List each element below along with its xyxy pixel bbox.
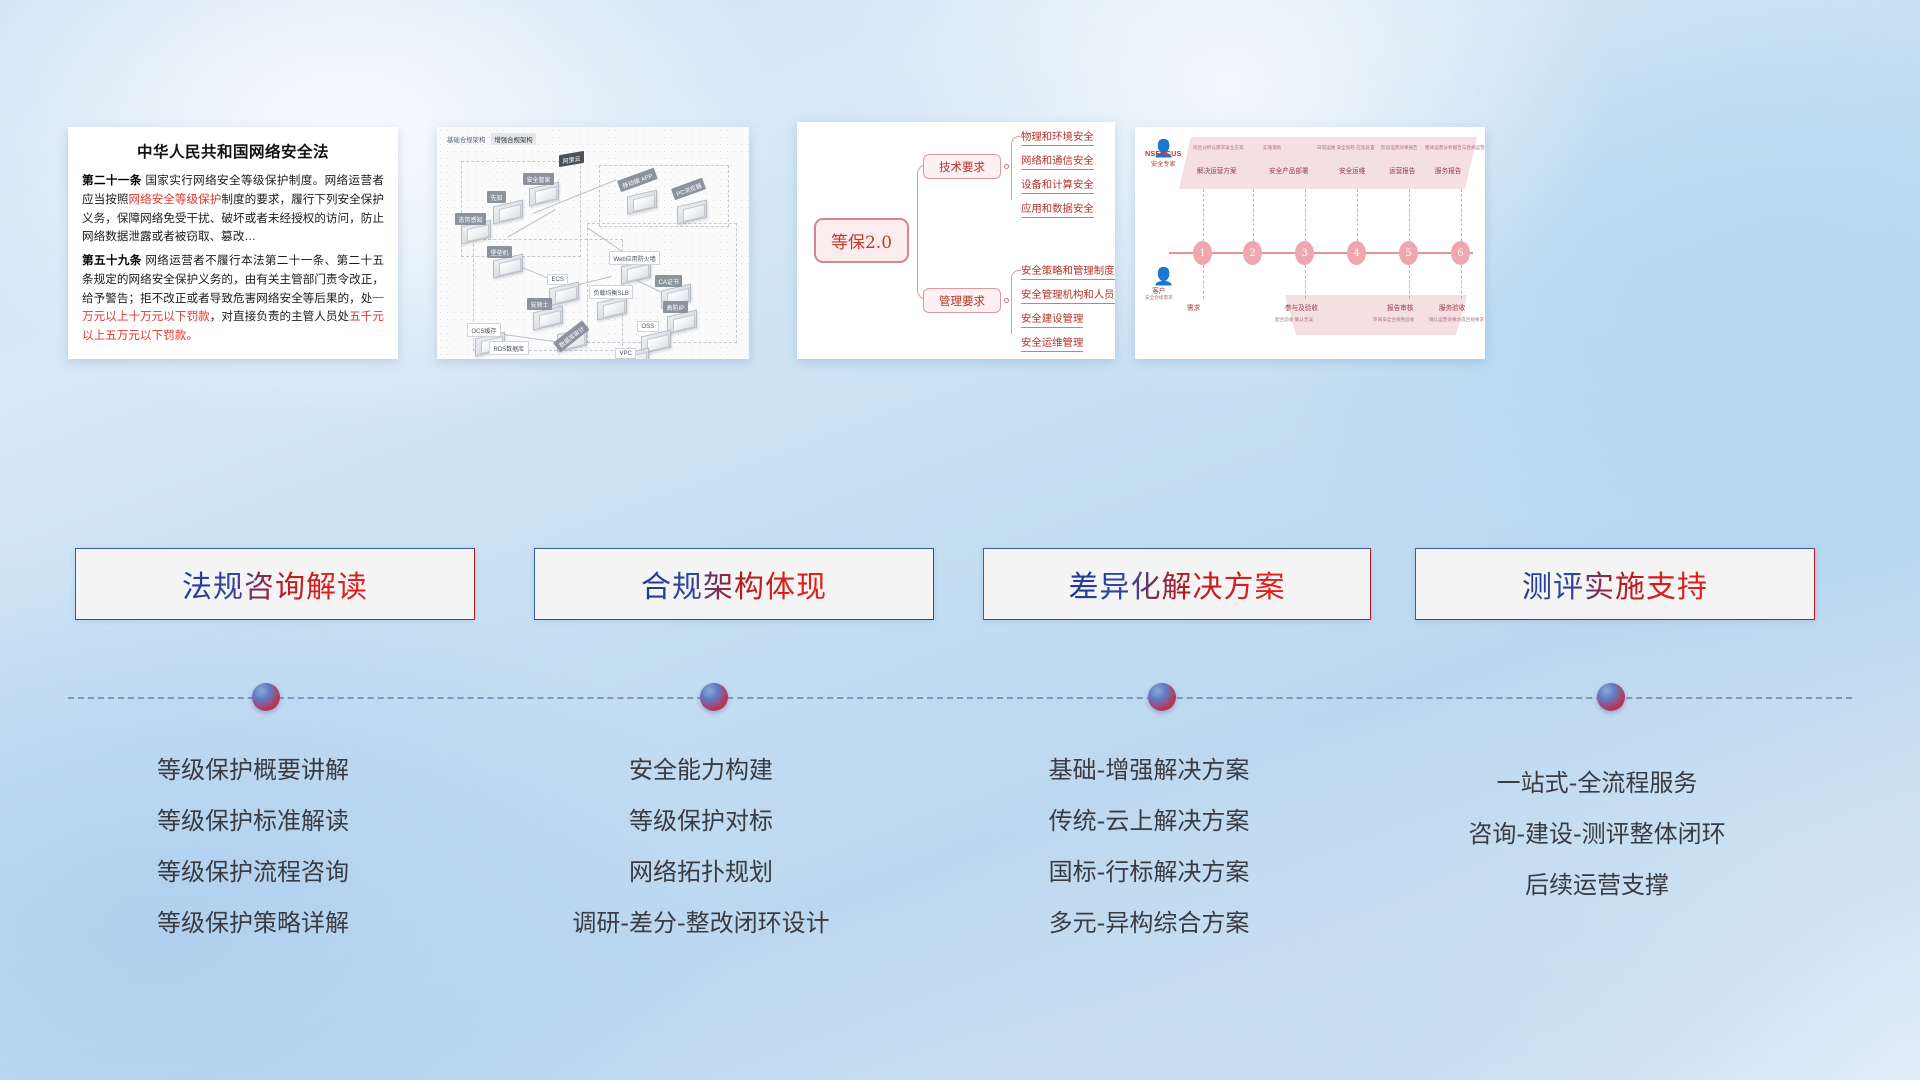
brand-block: NSFOCUS 安全专家	[1145, 149, 1182, 168]
timeline-node: 5	[1399, 241, 1418, 265]
timeline-stem	[1461, 189, 1462, 241]
banner-label: 差异化解决方案	[1069, 562, 1286, 606]
timeline-dashed-line	[68, 697, 1852, 699]
bottom-step-sub: 审阅安全合规性验收	[1373, 317, 1414, 323]
feature-list-2: 安全能力构建 等级保护对标 网络拓扑规划 调研-差分-整改闭环设计	[536, 745, 866, 949]
list-item: 一站式-全流程服务	[1422, 758, 1772, 809]
mindmap-branch-technical: 技术要求	[923, 154, 1001, 179]
timeline-stem	[1253, 189, 1254, 241]
node-label: ECS	[547, 274, 568, 285]
timeline-marker-4[interactable]	[1597, 683, 1625, 711]
node-label: 安骑士	[527, 298, 552, 310]
top-step-title: 服务报告	[1435, 165, 1461, 175]
list-item: 咨询-建设-测评整体闭环	[1422, 809, 1772, 860]
bottom-step-title: 服务验收	[1439, 302, 1465, 312]
timeline-node: 2	[1243, 241, 1262, 265]
top-step-sub: 综合分析以需求设立方案	[1193, 145, 1244, 151]
customer-avatar-icon: 👤	[1153, 267, 1174, 287]
list-item: 等级保护对标	[536, 796, 866, 847]
mindmap-leaf: 安全建设管理	[1021, 310, 1083, 328]
timeline-axis	[1169, 252, 1473, 254]
list-item: 后续运营支撑	[1422, 860, 1772, 911]
article-59-text-b: ，对直接负责的主管人员处	[210, 310, 349, 323]
mindmap-leaf: 安全策略和管理制度	[1021, 262, 1115, 280]
timeline-marker-1[interactable]	[252, 683, 280, 711]
banner-label: 合规架构体现	[641, 562, 827, 606]
slide-canvas: 中华人民共和国网络安全法 第二十一条 国家实行网络安全等级保护制度。网络运营者应…	[0, 0, 1920, 1080]
top-step-sub: 整体运营分析报告与合规运营效果	[1425, 145, 1485, 151]
bottom-step-title: 需求	[1187, 302, 1200, 312]
timeline-stem	[1409, 265, 1410, 299]
node-label: 态势感知	[455, 213, 486, 225]
timeline-stem	[1409, 189, 1410, 241]
banner-assessment-support[interactable]: 测评实施支持	[1415, 548, 1815, 620]
mindmap-connector	[1011, 136, 1021, 200]
banner-regulation-consulting[interactable]: 法规咨询解读	[75, 548, 475, 620]
brand-subtitle: 安全专家	[1145, 159, 1182, 168]
node-label: OCS缓存	[467, 323, 501, 337]
timeline-stem	[1461, 265, 1462, 299]
timeline-canvas: 👤 NSFOCUS 安全专家 👤 客户 安全合规需求 综合分析以需求设立方案 实…	[1135, 127, 1485, 359]
customer-label: 客户	[1145, 285, 1173, 295]
node-label: 负载均衡SLB	[589, 285, 633, 299]
timeline-stem	[1203, 189, 1204, 241]
card-law-text: 中华人民共和国网络安全法 第二十一条 国家实行网络安全等级保护制度。网络运营者应…	[68, 127, 398, 359]
list-item: 网络拓扑规划	[536, 847, 866, 898]
tab-enhanced-architecture[interactable]: 增强合规架构	[491, 133, 535, 145]
timeline-stem	[1305, 265, 1306, 299]
feature-list-3: 基础-增强解决方案 传统-云上解决方案 国标-行标解决方案 多元-异构综合方案	[982, 745, 1316, 949]
timeline-stem	[1305, 189, 1306, 241]
timeline-marker-2[interactable]	[700, 683, 728, 711]
top-step-sub: 阶段运营效果报告	[1381, 145, 1418, 151]
article-59-label: 第五十九条	[82, 254, 142, 267]
list-item: 安全能力构建	[536, 745, 866, 796]
timeline-node: 6	[1451, 241, 1470, 265]
law-title: 中华人民共和国网络安全法	[82, 140, 384, 162]
card-architecture-diagram: 基础合规架构 增强合规架构	[437, 127, 749, 359]
top-step-title: 安全运维	[1339, 165, 1365, 175]
list-item: 等级保护标准解读	[88, 796, 418, 847]
list-item: 等级保护流程咨询	[88, 847, 418, 898]
top-step-title: 安全产品部署	[1269, 165, 1309, 175]
timeline-node: 3	[1295, 241, 1314, 265]
banner-compliance-architecture[interactable]: 合规架构体现	[534, 548, 934, 620]
mindmap-leaf: 应用和数据安全	[1021, 200, 1094, 218]
article-21-highlight: 网络安全等级保护	[128, 193, 221, 206]
list-item: 等级保护策略详解	[88, 898, 418, 949]
node-label: 安全管家	[523, 173, 554, 185]
mindmap-leaf: 物理和环境安全	[1021, 128, 1094, 146]
tab-basic-architecture[interactable]: 基础合规架构	[444, 133, 488, 145]
list-item: 基础-增强解决方案	[982, 745, 1316, 796]
bottom-step-sub: 确认运营效果达成合规要求	[1429, 317, 1484, 323]
bottom-step-sub: 配合验收 确认无误	[1275, 317, 1313, 323]
architecture-canvas: 基础合规架构 增强合规架构	[437, 127, 749, 359]
banner-label: 测评实施支持	[1522, 562, 1708, 606]
list-item: 等级保护概要讲解	[88, 745, 418, 796]
node-label: Web应用防火墙	[609, 251, 660, 265]
customer-sub: 安全合规需求	[1145, 295, 1173, 301]
card-service-timeline: 👤 NSFOCUS 安全专家 👤 客户 安全合规需求 综合分析以需求设立方案 实…	[1135, 127, 1485, 359]
timeline-bottom-band	[1285, 295, 1467, 335]
top-step-title: 解决运营方案	[1197, 165, 1237, 175]
top-step-sub: 实施落地	[1263, 145, 1281, 151]
law-article-21: 第二十一条 国家实行网络安全等级保护制度。网络运营者应当按照网络安全等级保护制度…	[82, 172, 384, 247]
banner-differentiated-solution[interactable]: 差异化解决方案	[983, 548, 1371, 620]
list-item: 国标-行标解决方案	[982, 847, 1316, 898]
node-label: RDS数据库	[489, 341, 529, 355]
mindmap-canvas: 等保2.0 技术要求 物理和环境安全 网络和通信安全 设备和计算安全 应用和数据…	[797, 122, 1115, 359]
card-mindmap: 等保2.0 技术要求 物理和环境安全 网络和通信安全 设备和计算安全 应用和数据…	[797, 122, 1115, 359]
node-label: 高防IP	[663, 301, 688, 313]
feature-list-4: 一站式-全流程服务 咨询-建设-测评整体闭环 后续运营支撑	[1422, 758, 1772, 911]
list-item: 多元-异构综合方案	[982, 898, 1316, 949]
law-content: 中华人民共和国网络安全法 第二十一条 国家实行网络安全等级保护制度。网络运营者应…	[68, 127, 398, 359]
bottom-step-title: 参与及验收	[1285, 302, 1318, 312]
zone-clients	[599, 165, 729, 227]
banner-label: 法规咨询解读	[182, 562, 368, 606]
mindmap-leaf: 设备和计算安全	[1021, 176, 1094, 194]
mindmap-connector	[1011, 270, 1021, 334]
timeline-marker-3[interactable]	[1148, 683, 1176, 711]
bottom-step-title: 报告审核	[1387, 302, 1413, 312]
law-article-59: 第五十九条 网络运营者不履行本法第二十一条、第二十五条规定的网络安全保护义务的，…	[82, 252, 384, 346]
timeline-stem	[1203, 265, 1204, 299]
mindmap-branch-dot	[1004, 298, 1009, 303]
node-label: CA证书	[655, 275, 682, 287]
node-label: 先知	[487, 191, 506, 203]
architecture-tabs: 基础合规架构 增强合规架构	[444, 133, 536, 145]
timeline-node: 4	[1347, 241, 1366, 265]
node-label: OSS	[637, 321, 659, 332]
mindmap-leaf: 网络和通信安全	[1021, 152, 1094, 170]
mindmap-root-node: 等保2.0	[814, 218, 909, 263]
mindmap-branch-management: 管理要求	[923, 288, 1001, 313]
timeline-node: 1	[1193, 241, 1212, 265]
list-item: 调研-差分-整改闭环设计	[536, 898, 866, 949]
top-step-title: 运营报告	[1389, 165, 1415, 175]
mindmap-leaf: 安全管理机构和人员	[1021, 286, 1115, 304]
feature-list-1: 等级保护概要讲解 等级保护标准解读 等级保护流程咨询 等级保护策略详解	[88, 745, 418, 949]
list-item: 传统-云上解决方案	[982, 796, 1316, 847]
mindmap-leaf: 安全运维管理	[1021, 334, 1083, 352]
top-step-sub: 日常运维 安全巡检 应急处置	[1317, 145, 1375, 151]
article-21-label: 第二十一条	[82, 174, 142, 187]
timeline-stem	[1357, 189, 1358, 241]
node-label: VPC	[615, 348, 636, 359]
brand-name: NSFOCUS	[1145, 149, 1182, 158]
node-label: 堡垒机	[487, 246, 512, 258]
mindmap-branch-dot	[1004, 164, 1009, 169]
customer-block: 客户 安全合规需求	[1145, 285, 1173, 301]
